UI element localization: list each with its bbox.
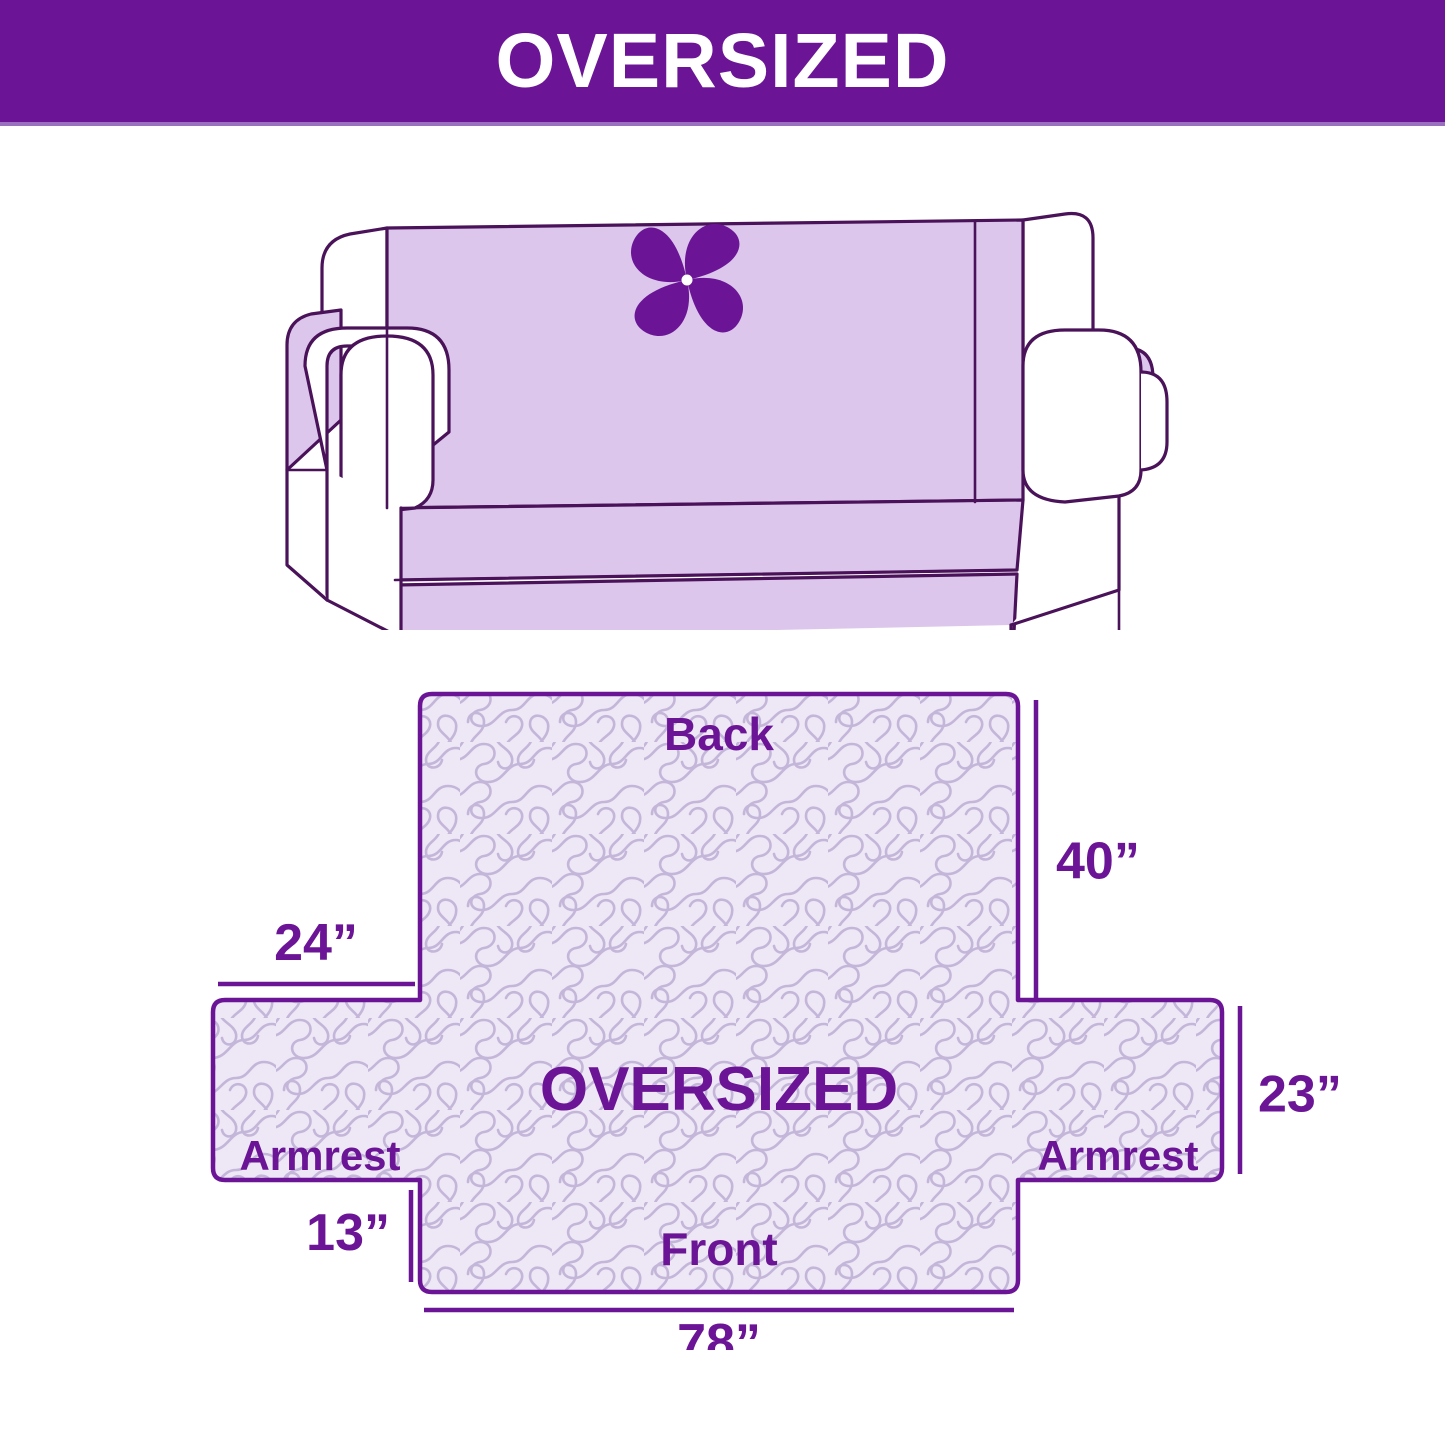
cover-flat-diagram: 40” 24” 23” 13” 78” Back Armrest Armrest…	[0, 650, 1445, 1350]
dim-label-13: 13”	[306, 1204, 390, 1262]
pinwheel-center-dot	[682, 275, 693, 286]
cover-shape	[213, 694, 1222, 1292]
sofa-illustration: .ol { fill:none; stroke:#4A1259; stroke-…	[275, 170, 1185, 630]
dim-label-24: 24”	[274, 914, 358, 972]
header-banner: OVERSIZED	[0, 0, 1445, 122]
label-armrest-left: Armrest	[239, 1132, 400, 1179]
dim-label-40: 40”	[1056, 833, 1140, 891]
label-back: Back	[664, 708, 774, 760]
label-front: Front	[660, 1223, 778, 1275]
product-size-chart-page: OVERSIZED .ol { fill:none; stroke:#4A125…	[0, 0, 1445, 1445]
label-armrest-right: Armrest	[1037, 1132, 1198, 1179]
label-center-size: OVERSIZED	[540, 1055, 898, 1124]
banner-title: OVERSIZED	[496, 23, 950, 100]
dim-label-23: 23”	[1258, 1066, 1342, 1124]
banner-underline	[0, 122, 1445, 126]
dim-label-78: 78”	[677, 1314, 761, 1350]
